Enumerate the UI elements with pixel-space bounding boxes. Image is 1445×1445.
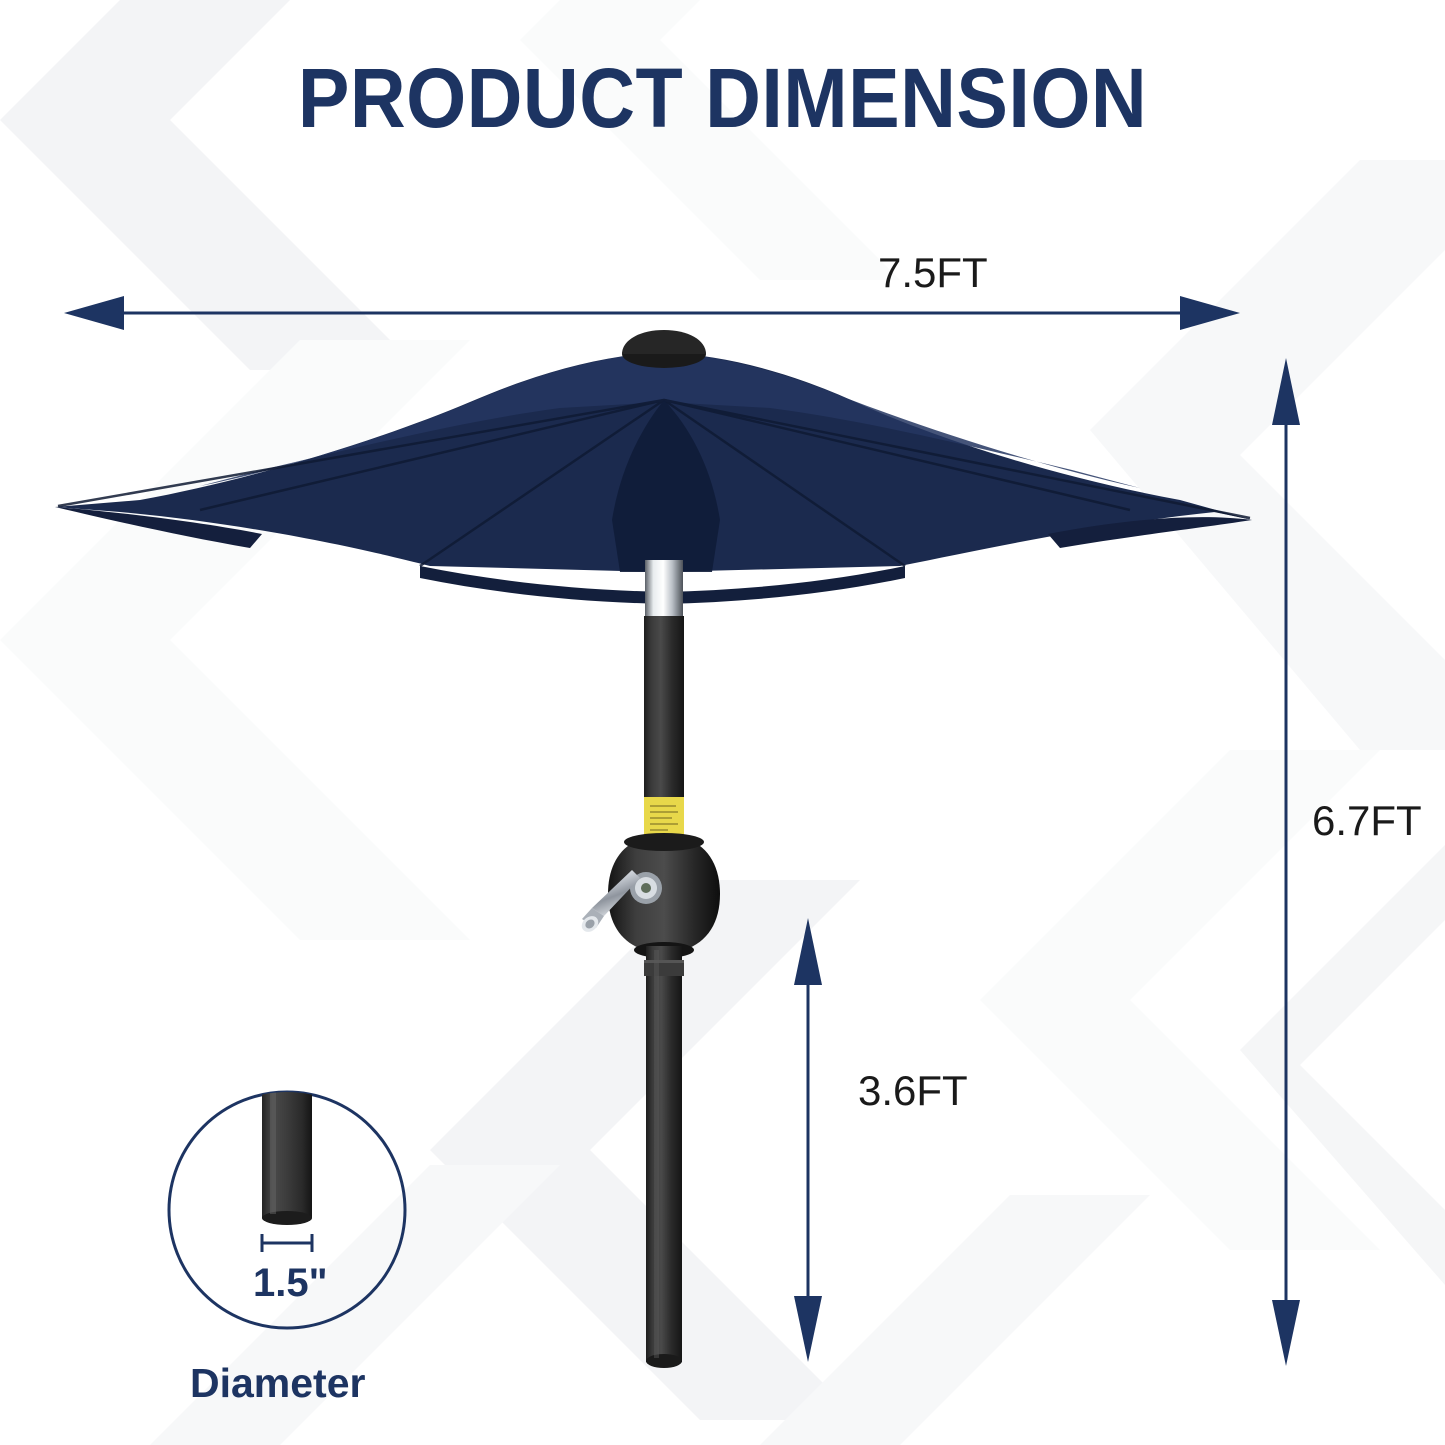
- callout-measurement-label: 1.5": [253, 1263, 328, 1303]
- callout-measure-bar: [262, 1234, 312, 1252]
- callout-pole-section: [262, 1085, 312, 1225]
- callout-caption: Diameter: [190, 1363, 365, 1404]
- product-dimension-infographic: PRODUCT DIMENSION: [0, 0, 1445, 1445]
- diameter-callout: [0, 0, 1445, 1445]
